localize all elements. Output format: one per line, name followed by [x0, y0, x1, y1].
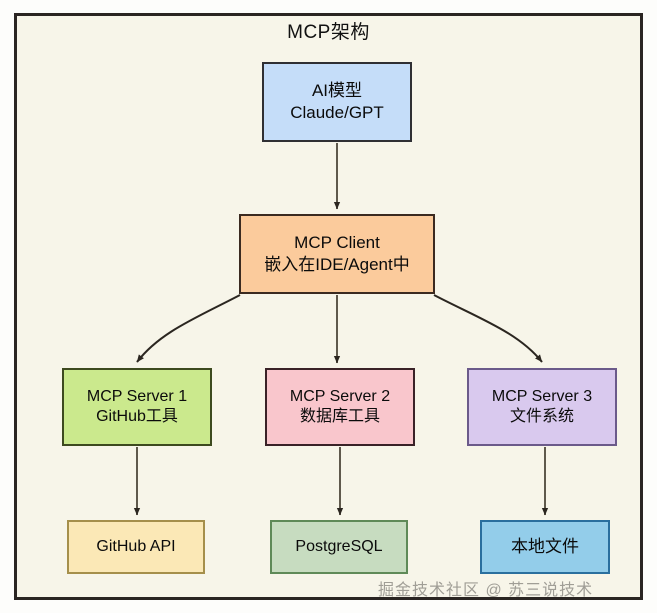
node-mcp-client-line1: MCP Client	[294, 232, 380, 254]
node-local-files-label: 本地文件	[511, 536, 579, 558]
node-mcp-server-2-line1: MCP Server 2	[290, 387, 390, 407]
node-local-files[interactable]: 本地文件	[480, 520, 610, 574]
node-mcp-server-2[interactable]: MCP Server 2 数据库工具	[265, 368, 415, 446]
node-mcp-server-1-line1: MCP Server 1	[87, 387, 187, 407]
node-mcp-server-1[interactable]: MCP Server 1 GitHub工具	[62, 368, 212, 446]
node-mcp-server-1-line2: GitHub工具	[96, 407, 178, 427]
diagram-canvas: MCP架构 AI模型 Claude/GPT MCP Client 嵌入在IDE/…	[0, 0, 657, 613]
diagram-title: MCP架构	[0, 17, 657, 44]
node-ai-model-line2: Claude/GPT	[290, 102, 384, 124]
node-github-api[interactable]: GitHub API	[67, 520, 205, 574]
node-mcp-client[interactable]: MCP Client 嵌入在IDE/Agent中	[239, 214, 435, 294]
node-mcp-client-line2: 嵌入在IDE/Agent中	[264, 254, 410, 276]
node-ai-model-line1: AI模型	[312, 80, 362, 102]
node-ai-model[interactable]: AI模型 Claude/GPT	[262, 62, 412, 142]
node-mcp-server-3[interactable]: MCP Server 3 文件系统	[467, 368, 617, 446]
node-postgresql[interactable]: PostgreSQL	[270, 520, 408, 574]
node-postgresql-label: PostgreSQL	[295, 537, 382, 557]
watermark: 掘金技术社区 @ 苏三说技术	[378, 576, 593, 600]
node-mcp-server-2-line2: 数据库工具	[300, 407, 380, 427]
node-mcp-server-3-line2: 文件系统	[510, 407, 574, 427]
node-mcp-server-3-line1: MCP Server 3	[492, 387, 592, 407]
node-github-api-label: GitHub API	[96, 537, 175, 557]
